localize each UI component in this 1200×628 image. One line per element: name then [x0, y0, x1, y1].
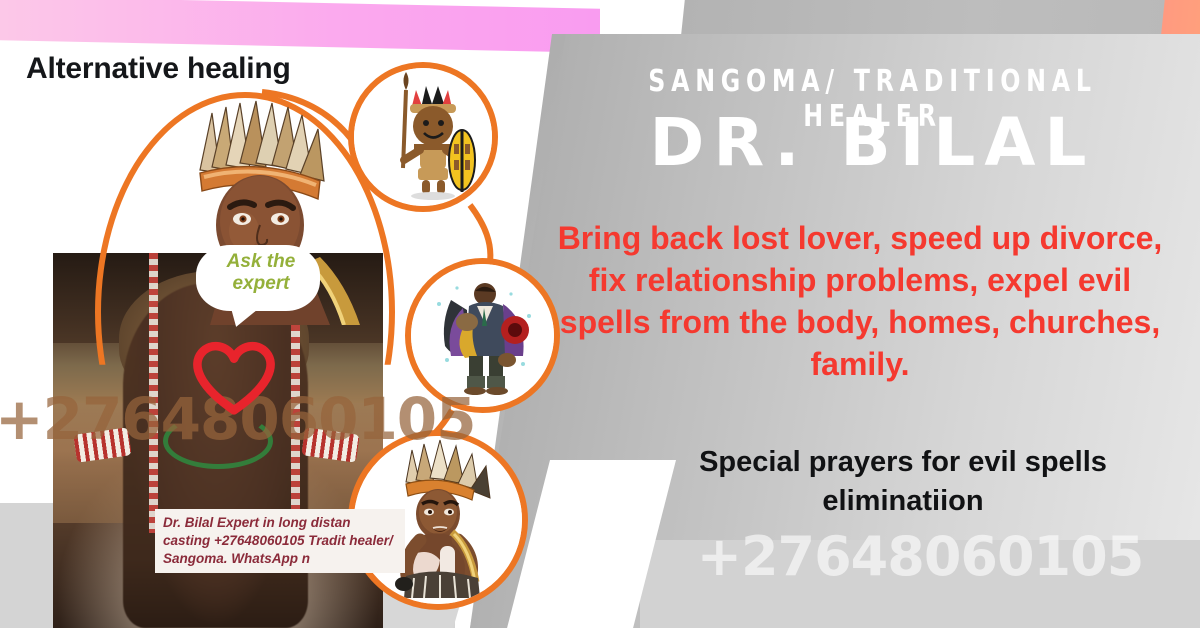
photo-caption-text: Dr. Bilal Expert in long distan casting … [155, 509, 405, 573]
circle-zulu-warrior-cartoon [348, 62, 498, 212]
speech-bubble-tail [224, 297, 266, 330]
poster-canvas: +27648060105 [0, 0, 1200, 628]
top-bar-gray [681, 0, 1175, 38]
top-bar-pink [0, 0, 600, 53]
alternative-healing-heading: Alternative healing [26, 52, 291, 86]
special-prayers-text: Special prayers for evil spells eliminat… [618, 443, 1188, 521]
top-bar-orange [1161, 0, 1200, 37]
speech-bubble-text: Ask the expert [206, 251, 316, 295]
heart-outline-graphic [186, 330, 282, 421]
page-title: DR. BILAL [565, 104, 1180, 181]
phone-number-watermark: +27648060105 [640, 525, 1200, 588]
services-description-text: Bring back lost lover, speed up divorce,… [545, 218, 1175, 386]
